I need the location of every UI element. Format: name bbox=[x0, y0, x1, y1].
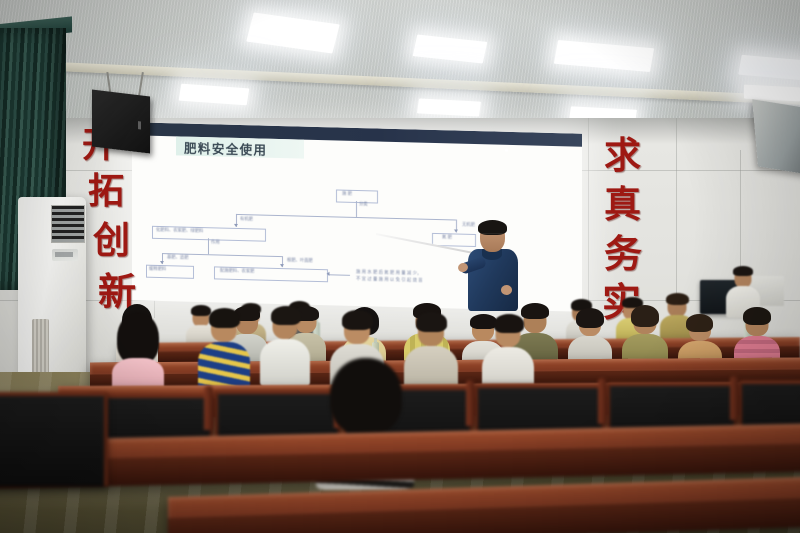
chair-post bbox=[466, 380, 475, 426]
flowchart-arrow bbox=[234, 224, 238, 227]
flowchart-connector bbox=[328, 274, 350, 276]
flowchart-leaf-left-label: 基肥、追肥 bbox=[167, 256, 188, 261]
wall-panel-seam bbox=[588, 118, 589, 318]
flowchart-connector bbox=[236, 214, 456, 221]
hair bbox=[743, 307, 771, 325]
wall-speaker-icon bbox=[752, 99, 800, 175]
glasses-icon bbox=[482, 233, 503, 238]
wall-calligraphy-right-char-2: 真 bbox=[604, 187, 641, 223]
flowchart-connector bbox=[208, 238, 209, 254]
hair bbox=[494, 314, 524, 333]
flowchart-arrow bbox=[160, 261, 164, 264]
chair-foreground-left[interactable] bbox=[0, 392, 108, 486]
flowchart-root-sublabel: 分类 bbox=[359, 203, 368, 208]
wall-panel-seam bbox=[676, 118, 677, 298]
person-row1-striped bbox=[198, 314, 250, 388]
presenter bbox=[458, 222, 530, 314]
wall-calligraphy-left-char-3: 创 bbox=[93, 223, 130, 259]
flowchart-root-label: 施 肥 bbox=[342, 193, 352, 198]
wall-calligraphy-right-char-3: 务 bbox=[604, 236, 642, 273]
chair-post bbox=[204, 386, 213, 430]
slide-marker-dot bbox=[505, 149, 508, 152]
hair bbox=[271, 306, 301, 325]
flowchart-mid-label: 作用 bbox=[211, 241, 220, 246]
flowchart-note: 施 用 水 肥 后 氮 肥 用 量 减 少， 不 宜 过 量 施 用 以 免 引… bbox=[356, 269, 423, 285]
wall-calligraphy-right-char-1: 求 bbox=[604, 138, 641, 174]
person-row1-woman-pink bbox=[112, 318, 164, 394]
ceiling-speaker-icon bbox=[92, 89, 150, 153]
flowchart-leaf-2: 配施肥料、农家肥 bbox=[220, 270, 254, 275]
hair bbox=[342, 310, 373, 330]
hair bbox=[330, 358, 402, 434]
presenter-hand bbox=[501, 285, 512, 295]
person-row1-white bbox=[260, 312, 310, 386]
hair bbox=[666, 293, 689, 305]
hair bbox=[521, 303, 549, 319]
torso bbox=[260, 339, 310, 387]
flowchart-arrow bbox=[327, 272, 330, 276]
flowchart-arrow bbox=[280, 264, 284, 267]
chair-post bbox=[598, 378, 607, 424]
flowchart-leaf-1: 缓释肥料 bbox=[149, 268, 166, 273]
hair bbox=[631, 305, 659, 327]
hair bbox=[416, 312, 447, 332]
hair bbox=[209, 308, 240, 328]
flowchart-connector bbox=[356, 201, 357, 217]
wall-calligraphy-left-char-2: 拓 bbox=[88, 174, 124, 209]
ac-display bbox=[55, 252, 73, 257]
chair-post bbox=[730, 376, 739, 420]
torso bbox=[198, 342, 250, 390]
ac-vent-icon bbox=[51, 205, 85, 243]
lecture-hall-photo: 肥料安全使用 施 肥 分类 有机肥 无机肥 化肥料、农家肥、绿肥料 氮 肥 作用… bbox=[0, 0, 800, 533]
flowchart-right-items: 氮 肥 bbox=[442, 236, 452, 241]
hair bbox=[576, 308, 604, 328]
flowchart-branch-left-label: 有机肥 bbox=[240, 218, 253, 223]
ceiling-light-panel bbox=[417, 98, 481, 116]
flowchart-leaf-right-label: 根肥、叶面肥 bbox=[287, 259, 313, 264]
hair bbox=[117, 312, 159, 364]
slide-title: 肥料安全使用 bbox=[184, 138, 267, 159]
hair bbox=[686, 314, 713, 332]
hair bbox=[733, 266, 753, 276]
